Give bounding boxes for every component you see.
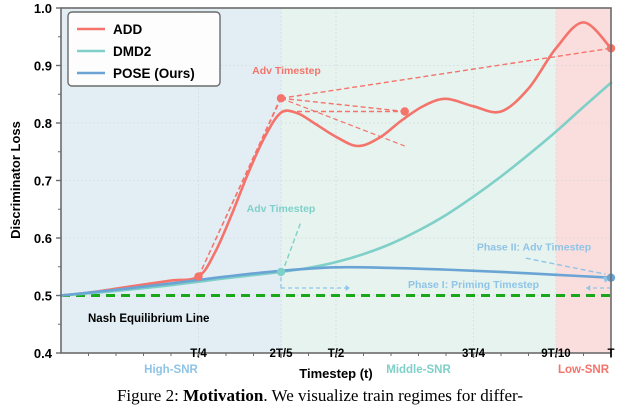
annotation-text: Phase II: Adv Timestep <box>477 242 591 254</box>
x-tick-label: T <box>607 348 614 360</box>
marker-add <box>401 107 409 115</box>
y-tick-label: 0.5 <box>34 289 52 304</box>
caption-prefix: Figure 2: <box>117 386 183 405</box>
y-tick-label: 0.4 <box>34 346 53 361</box>
legend-label-add[interactable]: ADD <box>113 22 142 37</box>
y-axis-ticks: 1.00.90.80.70.60.50.4 <box>34 1 61 361</box>
x-axis-title: Timestep (t) <box>299 366 372 381</box>
region-low-snr <box>556 8 611 353</box>
annotation-text: Adv Timestep <box>252 65 321 77</box>
snr-region-labels: High-SNRMiddle-SNRLow-SNR <box>144 364 610 376</box>
region-label: Low-SNR <box>558 364 610 376</box>
annotation-text: Phase I: Priming Timestep <box>408 279 539 291</box>
chart-legend[interactable]: ADDDMD2POSE (Ours) <box>68 12 220 86</box>
caption-bold: Motivation <box>183 386 263 405</box>
marker-dmd2 <box>277 268 285 276</box>
y-tick-label: 0.8 <box>34 116 52 131</box>
y-axis-title: Discriminator Loss <box>8 121 23 239</box>
y-tick-label: 0.9 <box>34 59 52 74</box>
region-label: Middle-SNR <box>386 364 451 376</box>
figure-container: 1.00.90.80.70.60.50.4 T/42T/5T/23T/49T/1… <box>0 0 640 412</box>
discriminator-loss-chart: 1.00.90.80.70.60.50.4 T/42T/5T/23T/49T/1… <box>0 0 640 386</box>
y-tick-label: 0.6 <box>34 231 52 246</box>
y-tick-label: 1.0 <box>34 1 52 16</box>
annotation-text: Adv Timestep <box>247 203 316 215</box>
y-tick-label: 0.7 <box>34 174 52 189</box>
legend-label-poseours[interactable]: POSE (Ours) <box>113 66 195 81</box>
nash-equilibrium-label: Nash Equilibrium Line <box>88 313 209 325</box>
legend-label-dmd2[interactable]: DMD2 <box>113 44 151 59</box>
marker-add <box>194 272 202 280</box>
marker-add <box>277 94 285 102</box>
region-label: High-SNR <box>144 364 198 376</box>
caption-rest: . We visualize train regimes for differ- <box>263 386 523 405</box>
figure-caption: Figure 2: Motivation. We visualize train… <box>0 386 640 406</box>
